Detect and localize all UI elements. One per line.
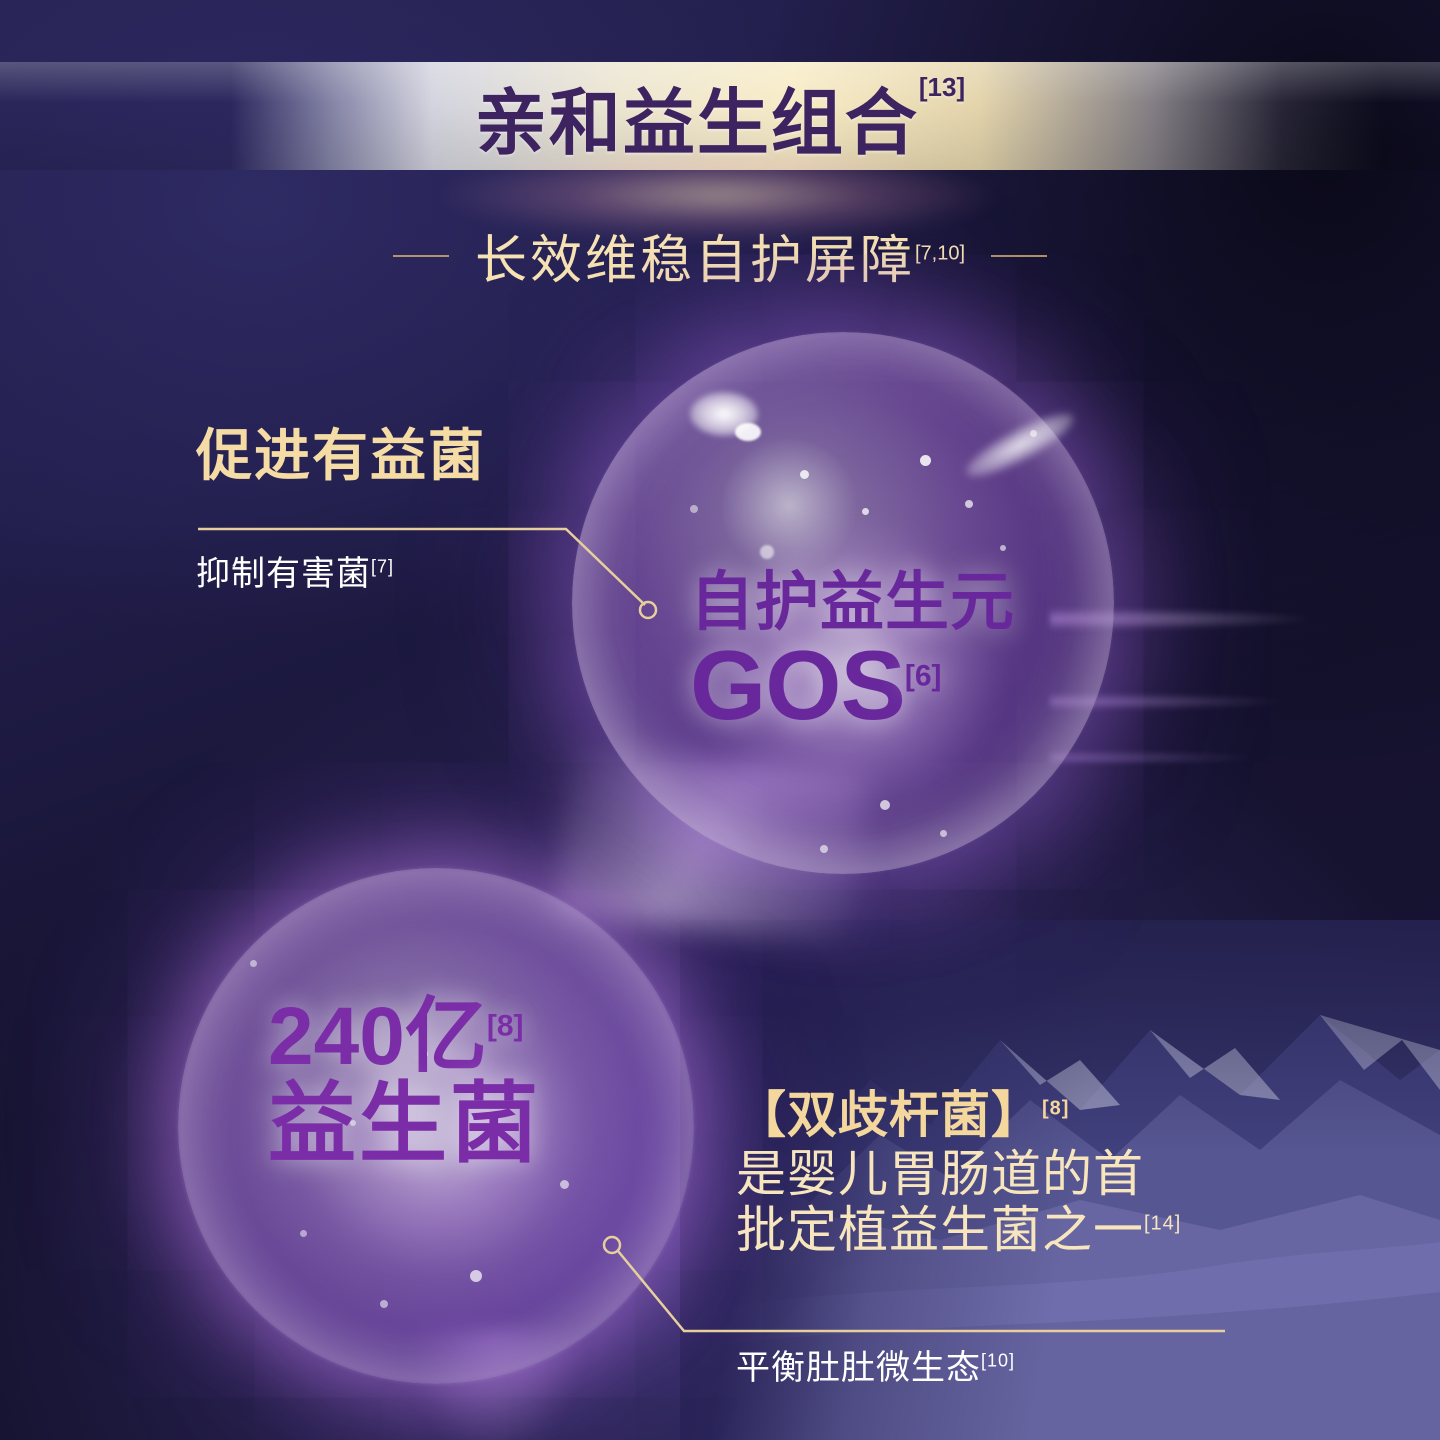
callout-right-body: 是婴儿胃肠道的首 批定植益生菌之一[14] [736,1146,1276,1258]
probiotic-sphere-label: 240亿[8] 益生菌 [268,995,668,1168]
callout-right-body-line1: 是婴儿胃肠道的首 [736,1146,1276,1202]
subtitle-text: 长效维稳自护屏障 [475,232,915,290]
prebiotic-label-en-text: GOS [690,630,905,740]
sparkle-particle [820,845,828,853]
sparkle-particle [560,1180,569,1189]
callout-right-caption-superscript: [10] [981,1351,1015,1371]
sparkle-particle [880,800,890,810]
prebiotic-sphere-label: 自护益生元 GOS[6] [690,570,1110,734]
callout-left-title: 促进有益菌 [196,428,486,484]
sparkle-particle [965,500,973,508]
sparkle-particle [760,545,774,559]
page-title-superscript: [13] [919,72,965,103]
prebiotic-label-superscript: [6] [905,659,942,692]
subtitle: 长效维稳自护屏障[7,10] [475,218,965,293]
page-title-text: 亲和益生组合 [475,64,919,169]
sparkle-particle [380,1300,388,1308]
promo-poster: 亲和益生组合[13] 长效维稳自护屏障[7,10] 自护益生元 GOS[6] 2… [0,0,1440,1440]
page-title: 亲和益生组合[13] [0,66,1440,166]
probiotic-amount: 240亿[8] [268,995,668,1079]
callout-right-body-superscript: [14] [1144,1212,1181,1234]
sparkle-particle [690,505,698,513]
callout-right-heading-text: 【双歧杆菌】 [736,1087,1042,1143]
probiotic-amount-superscript: [8] [487,1010,524,1043]
subtitle-dash-left [393,255,449,257]
callout-right-body-line2-wrap: 批定植益生菌之一[14] [736,1202,1276,1258]
callout-left-subtitle-superscript: [7] [371,557,394,577]
sparkle-particle [800,470,809,479]
subtitle-row: 长效维稳自护屏障[7,10] [0,218,1440,293]
sparkle-particle [940,830,947,837]
sparkle-particle [470,1270,482,1282]
prebiotic-label-en: GOS[6] [690,636,1110,734]
subtitle-dash-right [991,255,1047,257]
sparkle-particle [862,508,869,515]
subtitle-superscript: [7,10] [915,243,965,265]
prebiotic-label-cn: 自护益生元 [690,570,1110,634]
callout-right-heading: 【双歧杆菌】[8] [736,1088,1276,1142]
sparkle-particle [300,1230,307,1237]
callout-left-subtitle-text: 抑制有害菌 [196,555,371,593]
callout-right-caption-text: 平衡肚肚微生态 [736,1349,981,1387]
callout-left-subtitle: 抑制有害菌[7] [196,546,486,595]
sparkle-particle [250,960,257,967]
probiotic-label-cn: 益生菌 [268,1079,668,1169]
callout-right: 【双歧杆菌】[8] 是婴儿胃肠道的首 批定植益生菌之一[14] [736,1088,1276,1258]
probiotic-amount-text: 240亿 [268,991,487,1082]
callout-left: 促进有益菌 抑制有害菌[7] [196,428,486,595]
callout-right-body-line2: 批定植益生菌之一 [736,1202,1144,1258]
callout-right-caption: 平衡肚肚微生态[10] [736,1340,1015,1389]
callout-right-heading-superscript: [8] [1042,1097,1069,1119]
sparkle-particle [1000,545,1006,551]
sparkle-particle [735,423,761,441]
sparkle-particle [1030,430,1037,437]
sparkle-particle [920,455,931,466]
